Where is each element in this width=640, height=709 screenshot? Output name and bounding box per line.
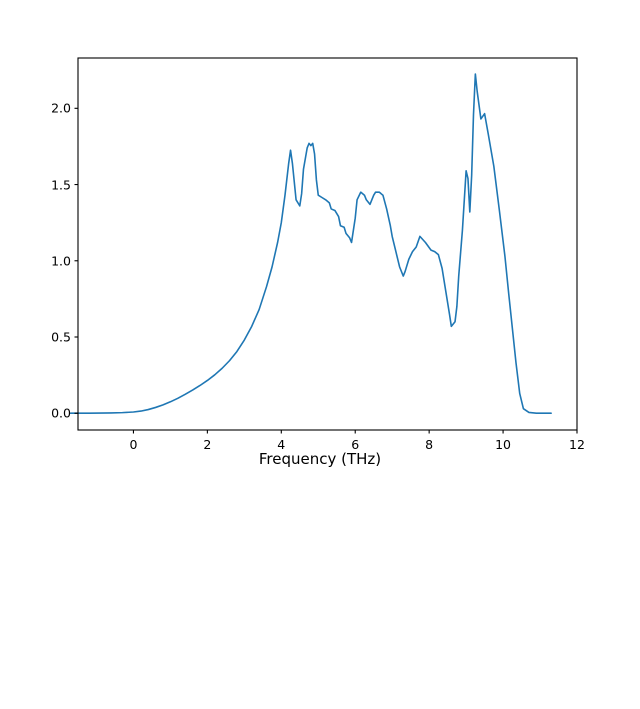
y-tick-label: 0.0 <box>51 406 71 421</box>
y-tick-label: 1.0 <box>51 253 71 268</box>
matplotlib-figure: 024681012 0.00.51.01.52.0 Frequency (THz… <box>0 0 640 480</box>
dos-line-chart <box>0 0 640 480</box>
y-tick-label: 0.5 <box>51 330 71 345</box>
axes-background <box>78 58 577 430</box>
y-tick-label: 1.5 <box>51 177 71 192</box>
y-tick-label: 2.0 <box>51 101 71 116</box>
x-axis-label: Frequency (THz) <box>0 450 640 468</box>
